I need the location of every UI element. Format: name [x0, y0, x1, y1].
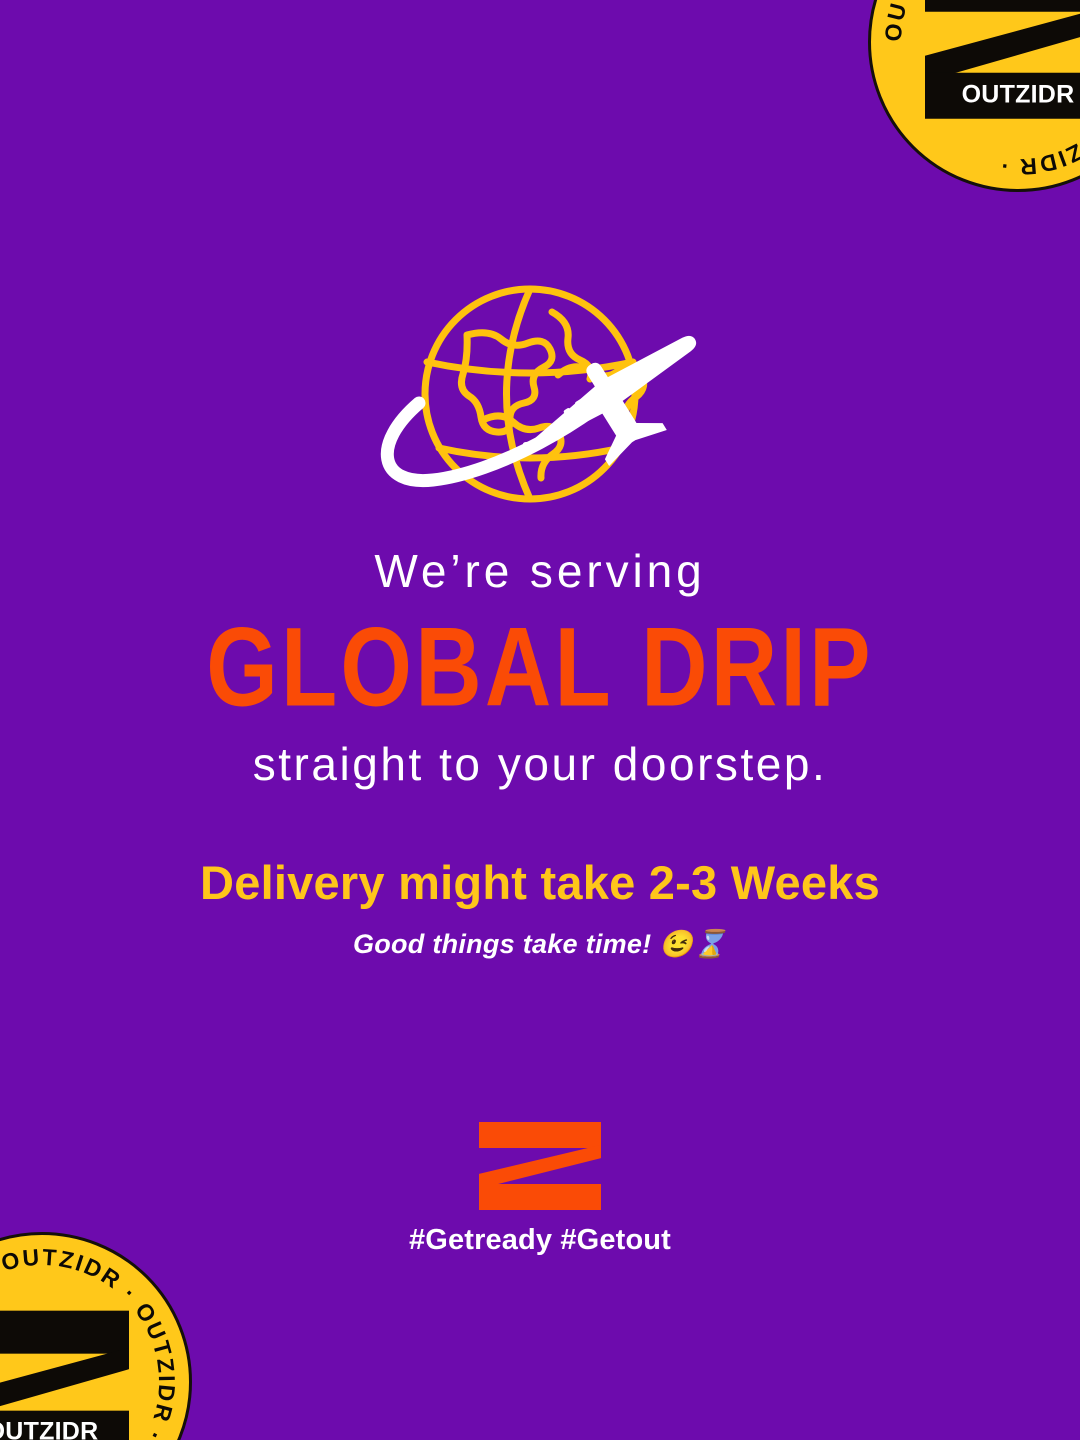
badge-wordmark: OUTZIDR [925, 73, 1080, 119]
badge-center-logo: OUTZIDR [0, 1311, 129, 1440]
reassurance-text: Good things take time! 😉⌛ [0, 928, 1080, 960]
outzidr-sticker-badge-bottom-left: OUTZIDR · OUTZIDR · OUTZIDR · OUTZIDR · … [0, 1232, 192, 1440]
copy-block: We’re serving GLOBAL DRIP straight to yo… [0, 548, 1080, 960]
badge-center-logo: OUTZIDR [925, 0, 1080, 118]
badge-wordmark: OUTZIDR [0, 1411, 129, 1440]
outzidr-sticker-badge-top-right: OUTZIDR · OUTZIDR · OUTZIDR · OUTZIDR · … [868, 0, 1080, 192]
headline-text: GLOBAL DRIP [0, 608, 1080, 729]
z-top-bar [479, 1122, 601, 1148]
outzidr-z-logo-icon [479, 1122, 601, 1210]
z-diagonal-bar [479, 1145, 601, 1189]
promo-poster: We’re serving GLOBAL DRIP straight to yo… [0, 0, 1080, 1440]
subhead-text: straight to your doorstep. [0, 741, 1080, 787]
eyebrow-text: We’re serving [0, 548, 1080, 594]
globe-airplane-illustration [355, 272, 725, 522]
z-top-bar [925, 0, 1080, 11]
z-bottom-bar [479, 1184, 601, 1210]
z-diagonal-bar [925, 5, 1080, 81]
delivery-note-text: Delivery might take 2-3 Weeks [0, 859, 1080, 906]
z-diagonal-bar [0, 1348, 129, 1419]
z-top-bar [0, 1311, 129, 1354]
